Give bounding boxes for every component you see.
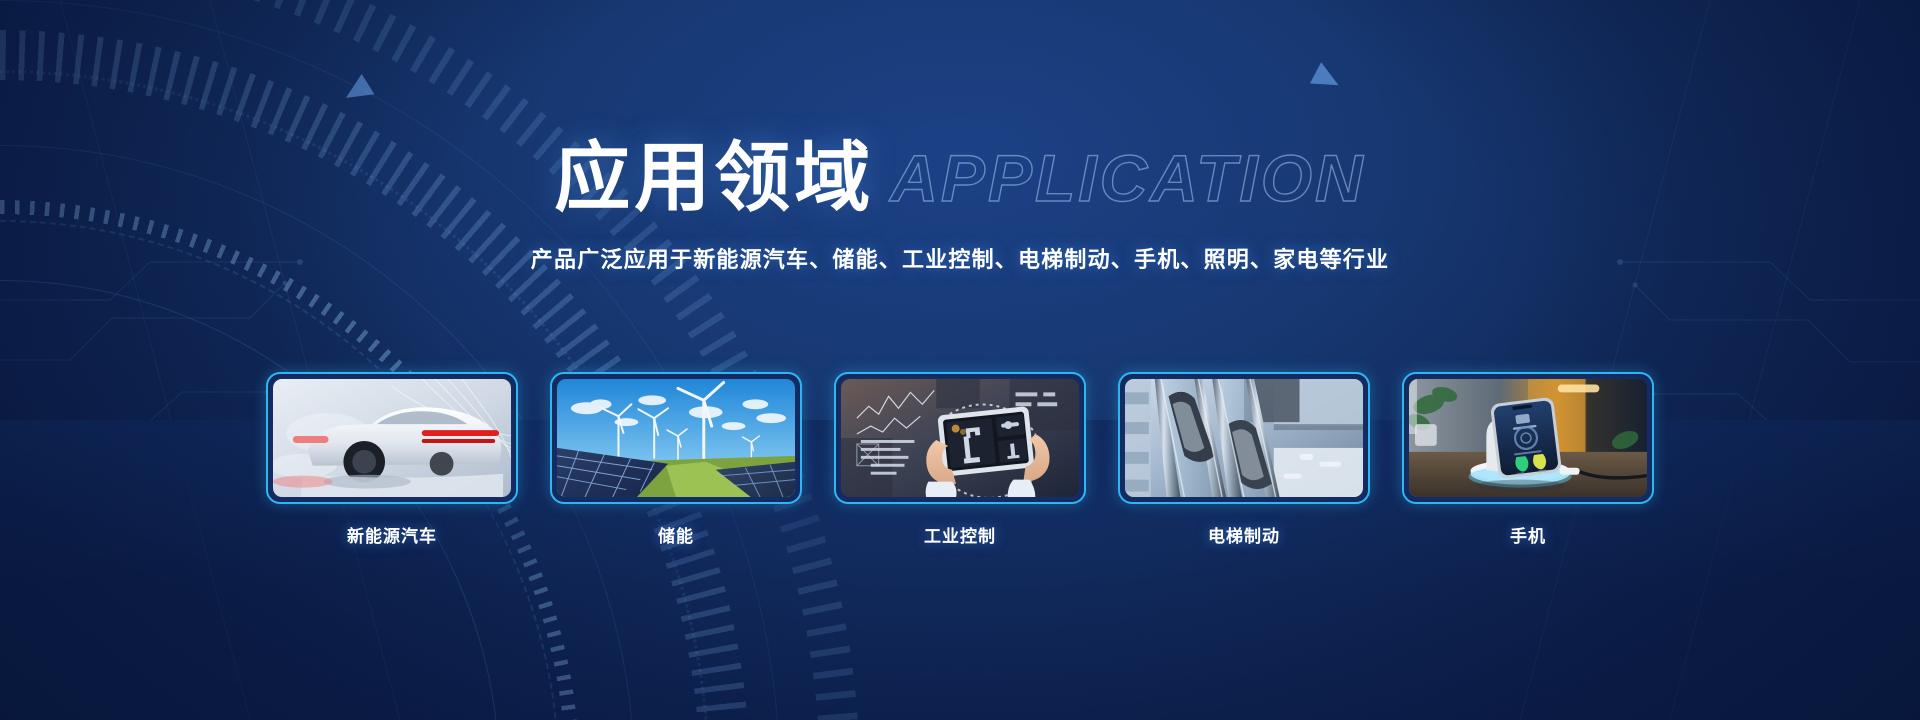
page-title-english: APPLICATION <box>890 141 1365 215</box>
card-label: 手机 <box>1402 522 1654 547</box>
card-label: 新能源汽车 <box>266 522 518 547</box>
card-frame <box>550 372 802 504</box>
application-card-elevator-brake[interactable]: 电梯制动 <box>1118 372 1370 547</box>
elevator-icon <box>1125 379 1363 497</box>
application-banner: 应用领域APPLICATION 产品广泛应用于新能源汽车、储能、工业控制、电梯制… <box>0 0 1920 720</box>
application-card-list: 新能源汽车 <box>0 372 1920 547</box>
application-card-mobile-phone[interactable]: 手机 <box>1402 372 1654 547</box>
card-frame <box>1118 372 1370 504</box>
card-frame <box>834 372 1086 504</box>
car-icon <box>273 379 511 497</box>
application-card-industrial-control[interactable]: 工业控制 <box>834 372 1086 547</box>
title-row: 应用领域APPLICATION <box>554 140 1365 216</box>
banner-subtitle: 产品广泛应用于新能源汽车、储能、工业控制、电梯制动、手机、照明、家电等行业 <box>0 242 1920 274</box>
card-label: 工业控制 <box>834 522 1086 547</box>
card-label: 储能 <box>550 522 802 547</box>
card-frame <box>266 372 518 504</box>
energy-storage-icon <box>557 379 795 497</box>
banner-heading: 应用领域APPLICATION 产品广泛应用于新能源汽车、储能、工业控制、电梯制… <box>0 140 1920 274</box>
application-card-new-energy-vehicle[interactable]: 新能源汽车 <box>266 372 518 547</box>
industrial-control-icon <box>841 379 1079 497</box>
card-frame <box>1402 372 1654 504</box>
mobile-phone-icon <box>1409 379 1647 497</box>
page-title: 应用领域 <box>554 133 874 222</box>
card-label: 电梯制动 <box>1118 522 1370 547</box>
ring-pointer-left-icon <box>340 74 375 108</box>
application-card-energy-storage[interactable]: 储能 <box>550 372 802 547</box>
ring-pointer-right-icon <box>1310 62 1344 95</box>
